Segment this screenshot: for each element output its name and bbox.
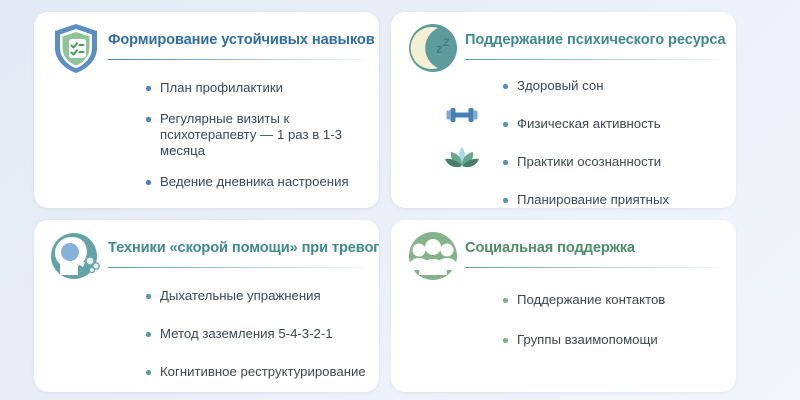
title-divider	[108, 59, 365, 60]
card-header: Техники «скорой помощи» при тревоге	[34, 220, 379, 278]
list-item: Ведение дневника настроения	[144, 174, 379, 190]
list-item: План профилактики	[144, 80, 379, 96]
title-divider	[465, 59, 722, 60]
card-skills: Формирование устойчивых навыков План про…	[34, 12, 379, 208]
card-social-support: Социальная поддержка Поддержание контакт…	[391, 220, 736, 392]
shield-checklist-icon	[48, 20, 104, 76]
dumbbell-icon	[443, 96, 481, 134]
card-title: Социальная поддержка	[465, 240, 728, 256]
card-title: Поддержание психического ресурса	[465, 32, 728, 48]
list-item: Практики осознанности	[501, 154, 736, 170]
card-header: Социальная поддержка	[391, 220, 736, 278]
card-item-list: Поддержание контактов Группы взаимопомощ…	[501, 292, 736, 348]
title-divider	[108, 267, 365, 268]
svg-text:Z: Z	[443, 37, 450, 49]
cards-grid: Формирование устойчивых навыков План про…	[34, 12, 770, 392]
people-group-icon	[405, 228, 461, 284]
list-item: Регулярные визиты к психотерапевту — 1 р…	[144, 111, 376, 159]
card-title: Формирование устойчивых навыков	[108, 32, 371, 48]
list-item: Отслеживание ранних признаков ухудшения	[144, 205, 379, 208]
moon-sleep-icon: z Z	[405, 20, 461, 76]
svg-text:z: z	[436, 41, 443, 56]
card-title: Техники «скорой помощи» при тревоге	[108, 240, 371, 256]
card-header: z Z Поддержание психического ресурса	[391, 12, 736, 70]
list-item: Поддержание контактов	[501, 292, 736, 308]
list-item: Метод заземления 5-4-3-2-1	[144, 326, 379, 342]
card-emergency-techniques: Техники «скорой помощи» при тревоге Дыха…	[34, 220, 379, 392]
title-divider	[465, 267, 722, 268]
head-breathing-icon	[48, 228, 104, 284]
card-item-list: Здоровый сон Физическая активность Практ…	[501, 78, 736, 208]
list-item: Дыхательные упражнения	[144, 288, 379, 304]
card-item-list: План профилактики Регулярные визиты к пс…	[144, 80, 379, 208]
lotus-icon	[443, 139, 481, 177]
card-item-list: Дыхательные упражнения Метод заземления …	[144, 288, 379, 380]
list-item: Когнитивное реструктурирование	[144, 364, 379, 380]
list-item: Планирование приятных активностей	[501, 192, 736, 208]
card-mental-resource: z Z Поддержание психического ресурса	[391, 12, 736, 208]
list-item: Здоровый сон	[501, 78, 736, 94]
list-item: Физическая активность	[501, 116, 736, 132]
card-header: Формирование устойчивых навыков	[34, 12, 379, 70]
list-item: Группы взаимопомощи	[501, 332, 736, 348]
